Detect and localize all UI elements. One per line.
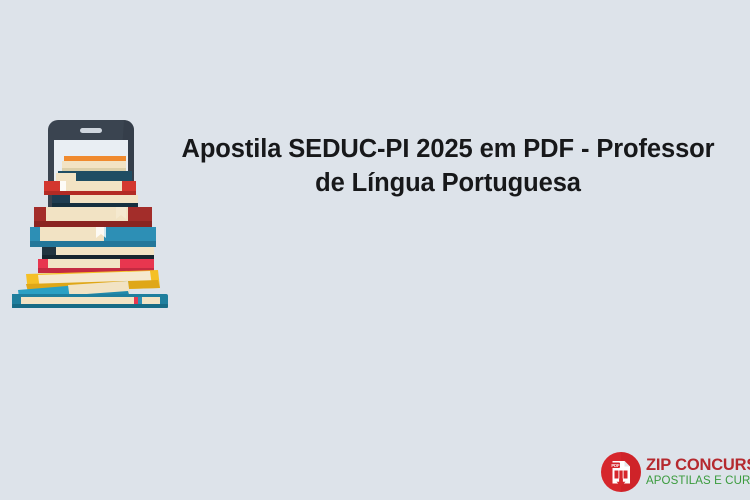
pdf-download-circle-icon: PDF (600, 451, 642, 493)
page-title: Apostila SEDUC-PI 2025 em PDF - Professo… (176, 132, 720, 200)
book-blue-large (30, 227, 156, 247)
svg-text:PDF: PDF (611, 463, 620, 468)
logo-wordmark: ZIP CONCURSOS APOSTILAS E CURSOS (646, 457, 750, 488)
logo-secondary-text: APOSTILAS E CURSOS (646, 476, 750, 488)
promo-banner: Apostila SEDUC-PI 2025 em PDF - Professo… (0, 0, 750, 500)
zip-concursos-logo[interactable]: PDF ZIP CONCURSOS APOSTILAS E CURSOS (600, 450, 746, 494)
book-red-1 (44, 181, 136, 195)
book-base (12, 294, 168, 308)
book-darkred-large (34, 207, 152, 227)
book-navy-2 (52, 195, 138, 207)
book-navy-1 (56, 171, 132, 181)
title-block: Apostila SEDUC-PI 2025 em PDF - Professo… (176, 132, 720, 200)
book-navy-3 (42, 247, 154, 259)
logo-primary-text: ZIP CONCURSOS (646, 457, 750, 474)
book-orange-top (62, 156, 126, 171)
stack-of-books-with-tablet-illustration (8, 118, 176, 310)
